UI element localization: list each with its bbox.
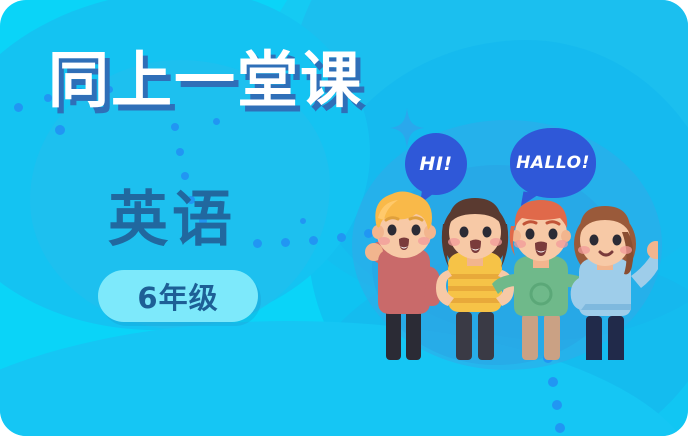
child-4 xyxy=(571,206,658,360)
course-cover-card: 同上一堂课 英语 6年级 HI! HALLO! xyxy=(0,0,688,436)
children-illustration xyxy=(358,190,658,360)
subject-title: 英语 xyxy=(108,190,236,250)
child-1 xyxy=(365,192,440,361)
page-title: 同上一堂课 xyxy=(48,50,363,111)
decorative-dot xyxy=(548,377,558,387)
decorative-dot xyxy=(555,423,565,433)
grade-badge-label: 6年级 xyxy=(137,275,218,317)
text-block: 同上一堂课 英语 6年级 xyxy=(0,0,360,436)
speech-bubble-hi-text: HI! xyxy=(419,153,452,175)
speech-bubble-hallo: HALLO! xyxy=(510,128,596,198)
speech-bubble-hi: HI! xyxy=(405,133,467,195)
decorative-dot xyxy=(552,400,562,410)
grade-badge: 6年级 xyxy=(98,270,258,322)
speech-bubble-hallo-text: HALLO! xyxy=(516,153,590,173)
